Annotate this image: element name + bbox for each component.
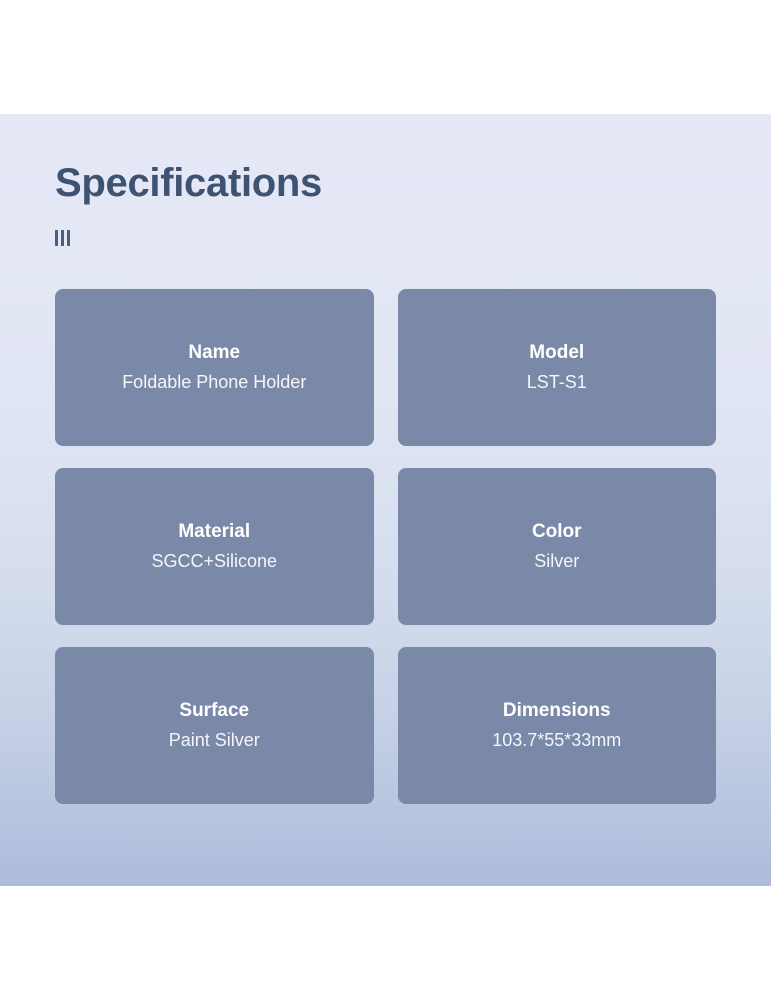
bar-2 xyxy=(61,230,64,246)
specifications-panel: Specifications Name Foldable Phone Holde… xyxy=(0,114,771,886)
spec-label: Color xyxy=(532,520,582,544)
spec-card-dimensions: Dimensions 103.7*55*33mm xyxy=(398,647,717,804)
spec-card-color: Color Silver xyxy=(398,468,717,625)
spec-label: Name xyxy=(188,341,240,365)
page-root: Specifications Name Foldable Phone Holde… xyxy=(0,0,771,1000)
spec-label: Model xyxy=(529,341,584,365)
spec-label: Material xyxy=(178,520,250,544)
spec-value: Silver xyxy=(534,550,579,573)
spec-value: Foldable Phone Holder xyxy=(122,371,306,394)
bar-3 xyxy=(67,230,70,246)
three-bars-mark-icon xyxy=(55,230,716,246)
spec-card-surface: Surface Paint Silver xyxy=(55,647,374,804)
spec-label: Surface xyxy=(179,699,249,723)
spec-value: SGCC+Silicone xyxy=(151,550,277,573)
bar-1 xyxy=(55,230,58,246)
specifications-grid: Name Foldable Phone Holder Model LST-S1 … xyxy=(55,289,716,804)
spec-label: Dimensions xyxy=(503,699,611,723)
spec-card-material: Material SGCC+Silicone xyxy=(55,468,374,625)
spec-card-model: Model LST-S1 xyxy=(398,289,717,446)
spec-value: 103.7*55*33mm xyxy=(492,729,621,752)
page-title: Specifications xyxy=(55,162,716,204)
panel-header: Specifications xyxy=(55,162,716,246)
spec-value: LST-S1 xyxy=(527,371,587,394)
spec-value: Paint Silver xyxy=(169,729,260,752)
spec-card-name: Name Foldable Phone Holder xyxy=(55,289,374,446)
